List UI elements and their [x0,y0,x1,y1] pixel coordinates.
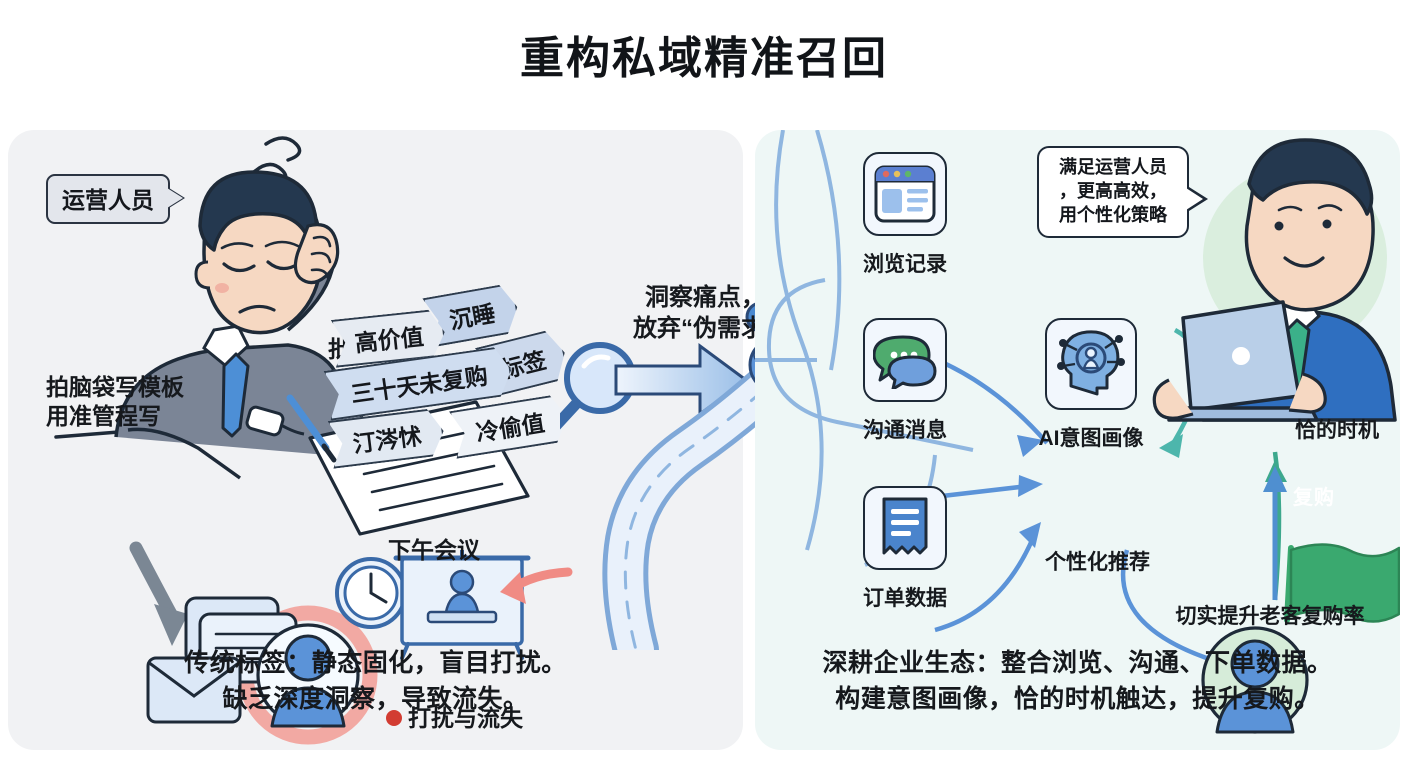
order-data-label: 订单数据 [825,582,985,612]
page-title: 重构私域精准召回 [0,22,1408,86]
right-panel-caption: 深耕企业生态：整合浏览、沟通、下单数据。 构建意图画像，恰的时机触达，提升复购。 [755,645,1400,718]
manual-template-note: 拍脑袋写模板 用准管程写 [46,373,184,432]
operator-role-tag: 运营人员 [46,174,170,224]
repurchase-outcome-label: 切实提升老客复购率 [1155,604,1385,631]
ai-head-icon [1045,318,1137,410]
afternoon-meeting-label: 下午会议 [388,536,480,565]
operator-quote-bubble: 满足运营人员 ，更高高效， 用个性化策略 [1037,146,1189,238]
browse-record-label: 浏览记录 [825,248,985,278]
right-timing-label: 恰的时机 [1295,418,1379,445]
bulk-send-label: 批量发送 [328,335,420,364]
browser-window-icon [863,152,947,236]
right-caption-line-2: 构建意图画像，恰的时机触达，提升复购。 [755,681,1400,717]
left-caption-line-1: 传统标签：静态固化，盲目打扰。 [8,645,743,681]
personalized-recommendation-label: 个性化推荐 [1045,550,1150,577]
traditional-approach-panel: 运营人员 拍脑袋写模板 用准管程写 批量发送 下午会议 打扰与流失 传统标签：静… [8,130,743,750]
chat-bubbles-icon [863,318,947,402]
ai-intent-profile-label: AI意图画像 [1011,422,1171,452]
right-caption-line-1: 深耕企业生态：整合浏览、沟通、下单数据。 [755,645,1400,681]
repurchase-flag-label: 复购 [1293,481,1335,510]
receipt-icon [863,486,947,570]
left-panel-caption: 传统标签：静态固化，盲目打扰。 缺乏深度洞察，导致流失。 [8,645,743,718]
infographic-root: 重构私域精准召回 [0,0,1408,768]
left-caption-line-2: 缺乏深度洞察，导致流失。 [8,681,743,717]
chat-message-label: 沟通消息 [825,414,985,444]
